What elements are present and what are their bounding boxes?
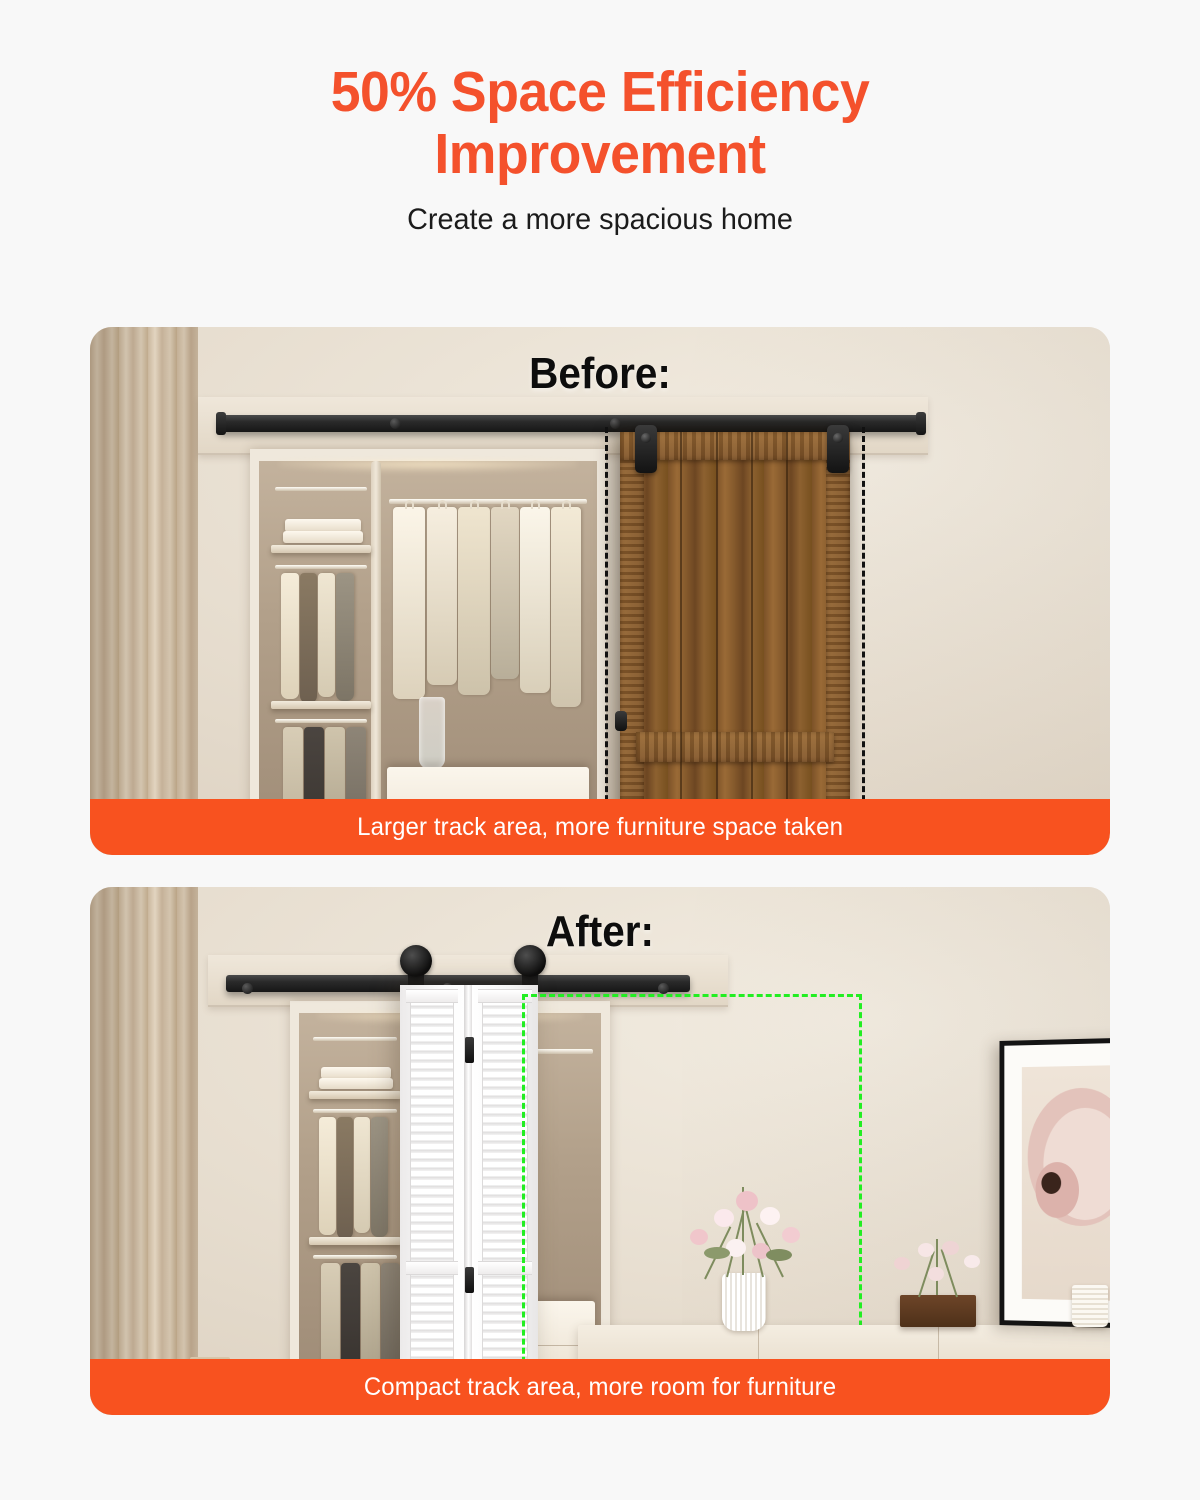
- hanging-coat: [393, 507, 425, 699]
- foliage: [704, 1247, 730, 1259]
- flower-bloom: [736, 1191, 758, 1211]
- closet-shelf-upper: [271, 545, 371, 553]
- dried-bloom: [964, 1255, 980, 1268]
- closet-shelf-lower: [271, 701, 371, 709]
- before-scene-image: [90, 327, 1110, 855]
- closet-rod-left-top: [275, 487, 367, 491]
- louver-slats: [410, 999, 454, 1375]
- folded-linen-2: [283, 531, 363, 543]
- hanging-coat: [427, 507, 457, 685]
- door-plank-seam: [786, 432, 788, 855]
- door-roller-hanger: [827, 425, 849, 473]
- bifold-hinge-upper: [465, 1037, 474, 1063]
- flower-bouquet: [674, 1177, 816, 1281]
- hanging-coat: [520, 507, 550, 693]
- hanger-hook-icon: [438, 500, 447, 509]
- hanging-shirt: [300, 573, 317, 703]
- closet-rod-left-bottom: [275, 719, 367, 723]
- track-bolt: [390, 418, 401, 429]
- closet-rod-left-mid: [313, 1109, 397, 1113]
- closet-rod-left-top: [313, 1037, 397, 1041]
- track-bolt: [658, 983, 669, 994]
- door-handle[interactable]: [615, 711, 627, 731]
- dried-bloom: [894, 1257, 910, 1270]
- hanger-hook-icon: [470, 500, 479, 509]
- flower-bloom: [714, 1209, 734, 1227]
- page-subheadline: Create a more spacious home: [24, 203, 1176, 237]
- flower-bloom: [690, 1229, 708, 1245]
- door-stile-right: [826, 432, 850, 855]
- caption-text-after: Compact track area, more room for furnit…: [364, 1373, 836, 1402]
- bifold-rail-middle: [406, 1261, 458, 1275]
- artwork-canvas: [1022, 1065, 1110, 1301]
- hanger-hook-icon: [531, 500, 540, 509]
- woven-basket: [1072, 1285, 1108, 1327]
- track-bolt: [242, 983, 253, 994]
- dried-flower-arrangement: [880, 1233, 998, 1299]
- hanger-hook-icon: [501, 500, 510, 509]
- caption-bar-before: Larger track area, more furniture space …: [90, 799, 1110, 855]
- door-stile-left: [620, 432, 644, 855]
- caption-bar-after: Compact track area, more room for furnit…: [90, 1359, 1110, 1415]
- flower-vase: [722, 1273, 766, 1331]
- hanging-coat: [491, 507, 519, 679]
- glass-vase: [419, 697, 445, 769]
- closet-rod-left-bottom: [313, 1255, 397, 1259]
- comparison-panel-after: After: Compact track area, more room for…: [90, 887, 1110, 1415]
- door-plank-seam: [751, 432, 753, 855]
- foliage: [766, 1249, 792, 1261]
- hanger-hook-icon: [405, 500, 414, 509]
- headline-line-1: 50% Space Efficiency: [36, 62, 1164, 124]
- hanging-shirt: [354, 1117, 370, 1233]
- track-bolt: [610, 418, 621, 429]
- closet-divider: [371, 461, 381, 846]
- curtain: [90, 887, 198, 1415]
- bifold-leaf-left[interactable]: [400, 985, 464, 1389]
- closet-interior: [259, 461, 597, 846]
- folded-linen-2: [319, 1078, 393, 1089]
- caption-text-before: Larger track area, more furniture space …: [357, 813, 843, 842]
- track-end-cap-right: [916, 412, 926, 435]
- comparison-panel-before: Before: Larger track area, more furnitur…: [90, 327, 1110, 855]
- track-area-outline-right: [862, 427, 865, 855]
- page-headline: 50% Space Efficiency Improvement: [36, 62, 1164, 185]
- closet-shelf-lower: [309, 1237, 401, 1245]
- sliding-door-track: [218, 415, 924, 432]
- art-shape: [1041, 1172, 1061, 1194]
- white-bifold-louver-door[interactable]: [400, 985, 538, 1389]
- panel-title-after: After:: [131, 907, 1069, 957]
- header: 50% Space Efficiency Improvement Create …: [0, 0, 1200, 237]
- hanging-shirt: [371, 1117, 388, 1237]
- after-scene-image: [90, 887, 1110, 1415]
- hanging-shirt: [336, 573, 354, 701]
- hanging-shirt: [337, 1117, 353, 1239]
- dried-bloom: [928, 1267, 944, 1281]
- hanging-shirt: [318, 573, 335, 697]
- headline-line-2: Improvement: [36, 124, 1164, 186]
- hanger-hook-icon: [562, 500, 571, 509]
- bifold-rail-top: [406, 989, 458, 1003]
- wooden-sliding-barn-door[interactable]: [620, 432, 850, 855]
- wooden-box: [900, 1295, 976, 1327]
- door-rail-middle: [636, 732, 834, 762]
- curtain: [90, 327, 198, 855]
- door-roller-hanger: [635, 425, 657, 473]
- artwork-mat: [1004, 1042, 1110, 1324]
- closet-light-glow: [279, 461, 576, 473]
- closet-frame: [250, 449, 606, 855]
- track-end-cap-left: [216, 412, 226, 435]
- hanging-shirt: [319, 1117, 336, 1235]
- flower-bloom: [782, 1227, 800, 1243]
- closet-shelf-upper: [309, 1091, 401, 1099]
- dried-bloom: [942, 1241, 959, 1255]
- door-plank-seam: [716, 432, 718, 855]
- hanging-coat: [458, 507, 490, 695]
- hanging-shirt: [281, 573, 299, 699]
- closet-rod-left-mid: [275, 565, 367, 569]
- door-plank-seam: [680, 432, 682, 855]
- hanging-coat: [551, 507, 581, 707]
- bifold-hinge-lower: [465, 1267, 474, 1293]
- closet-rod-main: [389, 499, 587, 504]
- dried-bloom: [918, 1243, 934, 1257]
- track-area-outline-left: [605, 427, 608, 855]
- panel-title-before: Before:: [131, 349, 1069, 399]
- flower-bloom: [760, 1207, 780, 1225]
